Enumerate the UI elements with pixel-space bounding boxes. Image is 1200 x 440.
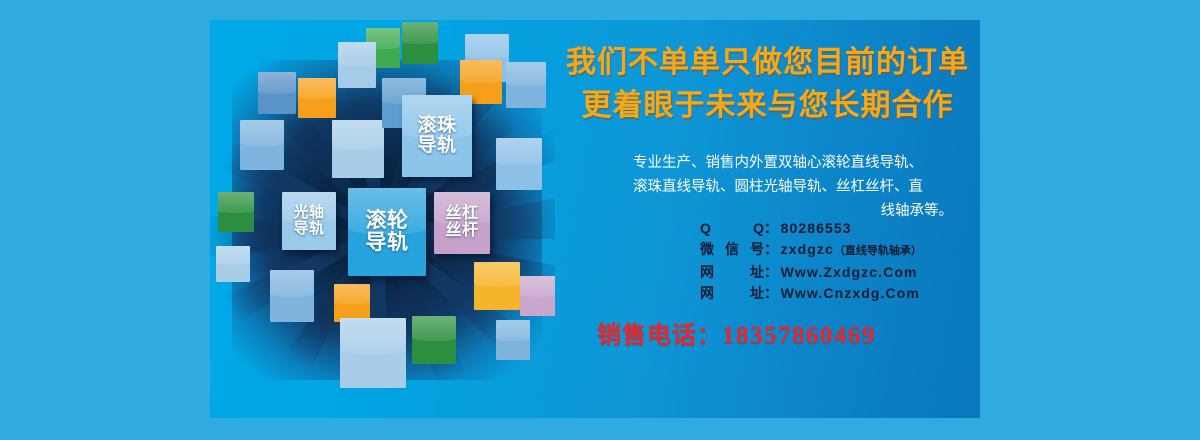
decor-cube xyxy=(298,78,336,118)
sales-phone-label: 销售电话： xyxy=(597,322,722,349)
decor-cube xyxy=(506,62,546,108)
contact-label-char: 网 xyxy=(700,262,714,283)
contact-row-website-1: 网 址 ： Www.Zxdgzc.Com xyxy=(700,262,922,283)
decor-cube xyxy=(218,192,254,232)
contact-label-website: 网 址 xyxy=(700,283,764,304)
cube-label-text: 丝杠 丝杆 xyxy=(445,206,478,239)
contact-label-qq: Q Q xyxy=(700,218,764,239)
contact-value-website-2[interactable]: Www.Cnzxdg.Com xyxy=(781,283,920,304)
headline: 我们不单单只做您目前的订单 更着眼于未来与您长期合作 xyxy=(555,42,980,127)
decor-cube xyxy=(402,22,438,64)
headline-line-2: 更着眼于未来与您长期合作 xyxy=(555,85,980,128)
decor-cube xyxy=(216,246,250,282)
contact-label-char: Q xyxy=(700,218,711,239)
contact-label-wechat: 微 信 号 xyxy=(700,239,764,260)
contact-label-char: 号 xyxy=(750,239,764,260)
decor-cube xyxy=(240,120,284,170)
contact-label-char: 址 xyxy=(750,283,764,304)
decor-cube xyxy=(270,270,314,322)
sales-phone[interactable]: 销售电话：18357860469 xyxy=(597,315,876,350)
decor-cube xyxy=(338,42,376,88)
description: 专业生产、销售内外置双轴心滚轮直线导轨、 滚珠直线导轨、圆柱光轴导轨、丝杠丝杆、… xyxy=(603,152,953,224)
description-line-1: 专业生产、销售内外置双轴心滚轮直线导轨、 xyxy=(603,152,953,176)
sales-phone-number[interactable]: 18357860469 xyxy=(722,322,876,349)
contact-label-char: 址 xyxy=(750,262,764,283)
description-line-2: 滚珠直线导轨、圆柱光轴导轨、丝杠丝杆、直 xyxy=(603,176,953,200)
contact-label-char: 微 xyxy=(700,239,714,260)
contact-row-qq: Q Q ： 80286553 xyxy=(700,218,922,239)
decor-cube xyxy=(340,318,406,388)
decor-cube xyxy=(332,120,384,178)
decor-cube xyxy=(412,316,456,364)
contact-note-wechat: （直线导轨轴承） xyxy=(834,241,922,262)
decor-cube xyxy=(334,284,370,322)
decor-cube xyxy=(258,72,296,114)
contact-label-char: 信 xyxy=(725,239,739,260)
decor-cube xyxy=(520,276,555,316)
cube-label-gunzhu-daogui: 滚珠 导轨 xyxy=(402,95,472,177)
banner-content: 我们不单单只做您目前的订单 更着眼于未来与您长期合作 专业生产、销售内外置双轴心… xyxy=(555,20,980,418)
contact-info: Q Q ： 80286553 微 信 号 ： zxdgzc （直线导轨轴承） xyxy=(700,218,922,304)
headline-line-1: 我们不单单只做您目前的订单 xyxy=(555,42,980,85)
cube-label-gunlun-daogui: 滚轮 导轨 xyxy=(348,188,426,276)
decor-cube xyxy=(496,320,530,360)
cubes-illustration: 滚珠 导轨 光轴 导轨 滚轮 导轨 丝杠 丝杆 xyxy=(210,20,555,418)
contact-separator: ： xyxy=(764,218,779,239)
contact-value-website-1[interactable]: Www.Zxdgzc.Com xyxy=(781,262,918,283)
promo-banner: 滚珠 导轨 光轴 导轨 滚轮 导轨 丝杠 丝杆 我们不单单只做您目前的订单 更着… xyxy=(210,20,980,418)
cube-label-guangzhou-daogui: 光轴 导轨 xyxy=(282,192,336,250)
decor-cube xyxy=(474,262,520,310)
contact-separator: ： xyxy=(764,283,779,304)
contact-value-qq[interactable]: 80286553 xyxy=(781,218,852,239)
contact-row-website-2: 网 址 ： Www.Cnzxdg.Com xyxy=(700,283,922,304)
cube-label-text: 滚珠 导轨 xyxy=(417,116,456,156)
contact-label-char: Q xyxy=(753,218,764,239)
cube-label-text: 滚轮 导轨 xyxy=(366,210,409,254)
contact-value-wechat[interactable]: zxdgzc xyxy=(781,239,834,260)
contact-separator: ： xyxy=(764,239,779,260)
contact-label-website: 网 址 xyxy=(700,262,764,283)
decor-cube xyxy=(496,138,542,190)
page-root: 滚珠 导轨 光轴 导轨 滚轮 导轨 丝杠 丝杆 我们不单单只做您目前的订单 更着… xyxy=(0,0,1200,440)
contact-row-wechat: 微 信 号 ： zxdgzc （直线导轨轴承） xyxy=(700,239,922,262)
cube-label-sigang-sigan: 丝杠 丝杆 xyxy=(434,192,490,254)
contact-separator: ： xyxy=(764,262,779,283)
cube-label-text: 光轴 导轨 xyxy=(293,205,324,236)
contact-label-char: 网 xyxy=(700,283,714,304)
